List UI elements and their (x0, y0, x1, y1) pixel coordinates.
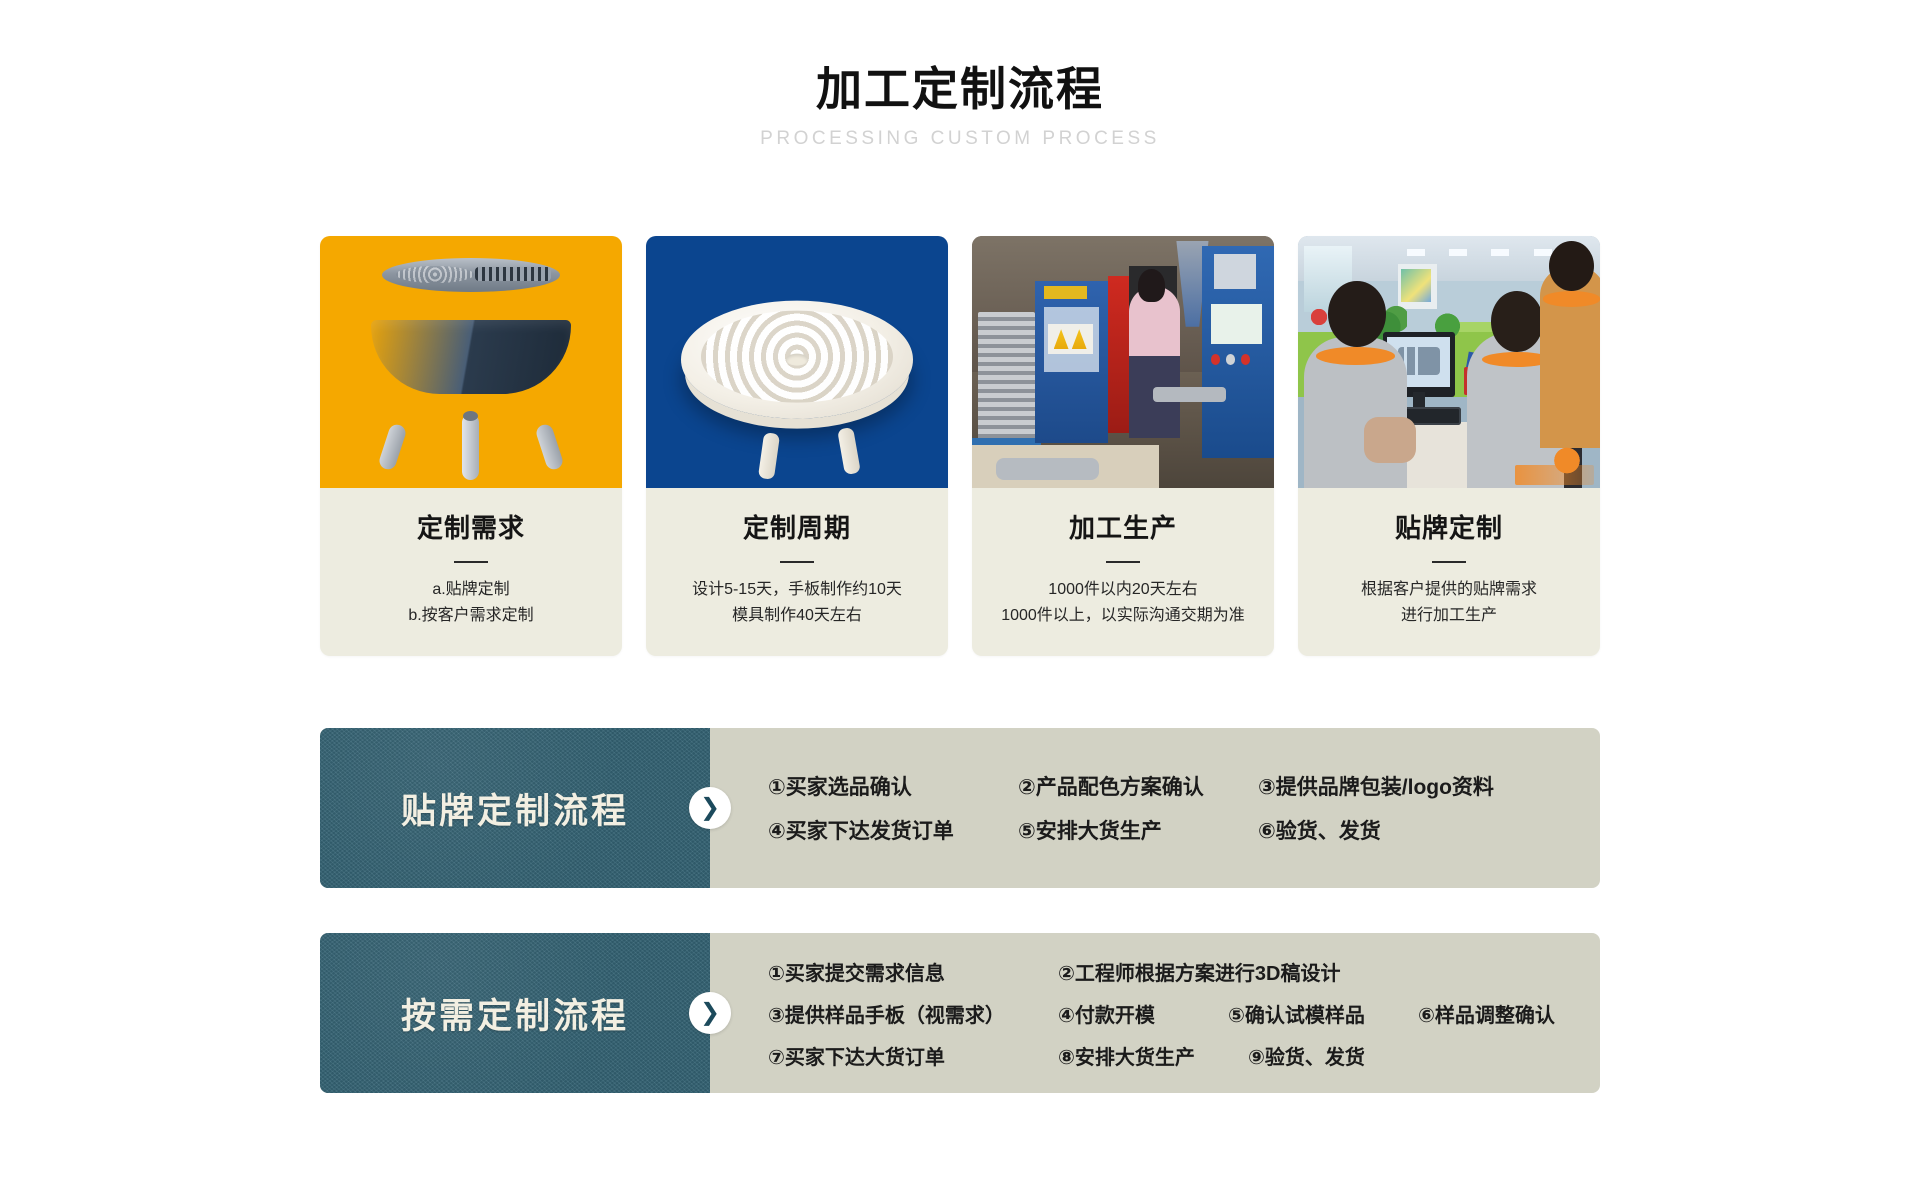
prototype-sample-icon (681, 301, 913, 419)
card-1-desc-line1: a.贴牌定制 (432, 577, 509, 603)
oem-step-5: ⑤安排大货生产 (1018, 815, 1258, 845)
card-4-title: 贴牌定制 (1395, 508, 1503, 545)
oem-step-3: ③提供品牌包装/logo资料 (1258, 771, 1494, 801)
grill-lid-icon (382, 258, 560, 292)
grill-leg-center-icon (462, 414, 479, 480)
card-2-divider (780, 561, 814, 563)
card-3-divider (1106, 561, 1140, 563)
process-cards-row: 定制需求 a.贴牌定制 b.按客户需求定制 定制周期 设计5-15天，手板制作约… (320, 236, 1600, 656)
custom-process-page: 加工定制流程 PROCESSING CUSTOM PROCESS 定制需求 a.… (0, 0, 1920, 1200)
ondemand-flow-steps: ①买家提交需求信息 ②工程师根据方案进行3D稿设计 ③提供样品手板（视需求） ④… (710, 933, 1600, 1093)
ondemand-step-9: ⑨验货、发货 (1248, 1041, 1365, 1070)
ondemand-flow-banner: 按需定制流程 ❯ ①买家提交需求信息 ②工程师根据方案进行3D稿设计 ③提供样品… (320, 933, 1600, 1093)
ondemand-step-2: ②工程师根据方案进行3D稿设计 (1058, 957, 1341, 986)
ondemand-step-1: ①买家提交需求信息 (768, 957, 1058, 986)
page-header: 加工定制流程 PROCESSING CUSTOM PROCESS (0, 62, 1920, 150)
card-2-title: 定制周期 (743, 508, 851, 545)
oem-step-6: ⑥验货、发货 (1258, 815, 1381, 845)
page-subtitle: PROCESSING CUSTOM PROCESS (0, 128, 1920, 150)
card-4-image (1298, 236, 1600, 488)
ondemand-flow-row-2: ③提供样品手板（视需求） ④付款开模 ⑤确认试模样品 ⑥样品调整确认 (768, 992, 1600, 1034)
card-4-divider (1432, 561, 1466, 563)
card-1-divider (454, 561, 488, 563)
ondemand-step-6: ⑥样品调整确认 (1418, 999, 1555, 1028)
oem-flow-banner: 贴牌定制流程 ❯ ①买家选品确认 ②产品配色方案确认 ③提供品牌包装/logo资… (320, 728, 1600, 888)
oem-flow-label: 贴牌定制流程 (401, 783, 629, 834)
arrow-right-icon[interactable]: ❯ (689, 787, 731, 829)
card-2-desc-line1: 设计5-15天，手板制作约10天 (692, 577, 902, 603)
oem-flow-label-panel: 贴牌定制流程 ❯ (320, 728, 710, 888)
card-1-body: 定制需求 a.贴牌定制 b.按客户需求定制 (320, 488, 622, 656)
grill-leg-right-icon (534, 422, 564, 471)
card-2-image (646, 236, 948, 488)
card-4-body: 贴牌定制 根据客户提供的贴牌需求 进行加工生产 (1298, 488, 1600, 656)
process-card-2[interactable]: 定制周期 设计5-15天，手板制作约10天 模具制作40天左右 (646, 236, 948, 656)
card-2-desc-line2: 模具制作40天左右 (732, 603, 862, 629)
card-3-desc-line2: 1000件以上，以实际沟通交期为准 (1001, 603, 1245, 629)
page-title: 加工定制流程 (0, 62, 1920, 116)
card-4-desc-line1: 根据客户提供的贴牌需求 (1361, 577, 1537, 603)
process-card-4[interactable]: 贴牌定制 根据客户提供的贴牌需求 进行加工生产 (1298, 236, 1600, 656)
card-2-body: 定制周期 设计5-15天，手板制作约10天 模具制作40天左右 (646, 488, 948, 656)
arrow-right-icon[interactable]: ❯ (689, 992, 731, 1034)
oem-step-1: ①买家选品确认 (768, 771, 1018, 801)
card-1-title: 定制需求 (417, 508, 525, 545)
oem-step-2: ②产品配色方案确认 (1018, 771, 1258, 801)
card-3-title: 加工生产 (1069, 508, 1177, 545)
card-3-body: 加工生产 1000件以内20天左右 1000件以上，以实际沟通交期为准 (972, 488, 1274, 656)
card-1-desc-line2: b.按客户需求定制 (408, 603, 533, 629)
ondemand-flow-row-1: ①买家提交需求信息 ②工程师根据方案进行3D稿设计 (768, 950, 1600, 992)
ondemand-step-5: ⑤确认试模样品 (1228, 999, 1418, 1028)
grill-bowl-icon (371, 320, 571, 394)
prototype-leg-b-icon (838, 426, 862, 474)
ondemand-step-8: ⑧安排大货生产 (1058, 1041, 1248, 1070)
ondemand-flow-label: 按需定制流程 (401, 988, 629, 1039)
process-card-3[interactable]: 加工生产 1000件以内20天左右 1000件以上，以实际沟通交期为准 (972, 236, 1274, 656)
process-card-1[interactable]: 定制需求 a.贴牌定制 b.按客户需求定制 (320, 236, 622, 656)
oem-flow-steps: ①买家选品确认 ②产品配色方案确认 ③提供品牌包装/logo资料 ④买家下达发货… (710, 728, 1600, 888)
ondemand-flow-row-3: ⑦买家下达大货订单 ⑧安排大货生产 ⑨验货、发货 (768, 1034, 1600, 1076)
oem-flow-row-2: ④买家下达发货订单 ⑤安排大货生产 ⑥验货、发货 (768, 808, 1600, 852)
ondemand-step-4: ④付款开模 (1058, 999, 1228, 1028)
card-4-desc-line2: 进行加工生产 (1401, 603, 1497, 629)
ondemand-step-7: ⑦买家下达大货订单 (768, 1041, 1058, 1070)
grill-leg-left-icon (377, 422, 407, 471)
ondemand-flow-label-panel: 按需定制流程 ❯ (320, 933, 710, 1093)
oem-step-4: ④买家下达发货订单 (768, 815, 1018, 845)
ondemand-step-3: ③提供样品手板（视需求） (768, 999, 1058, 1028)
card-3-desc-line1: 1000件以内20天左右 (1048, 577, 1197, 603)
prototype-leg-a-icon (758, 432, 780, 480)
card-3-image (972, 236, 1274, 488)
card-1-image (320, 236, 622, 488)
oem-flow-row-1: ①买家选品确认 ②产品配色方案确认 ③提供品牌包装/logo资料 (768, 764, 1600, 808)
